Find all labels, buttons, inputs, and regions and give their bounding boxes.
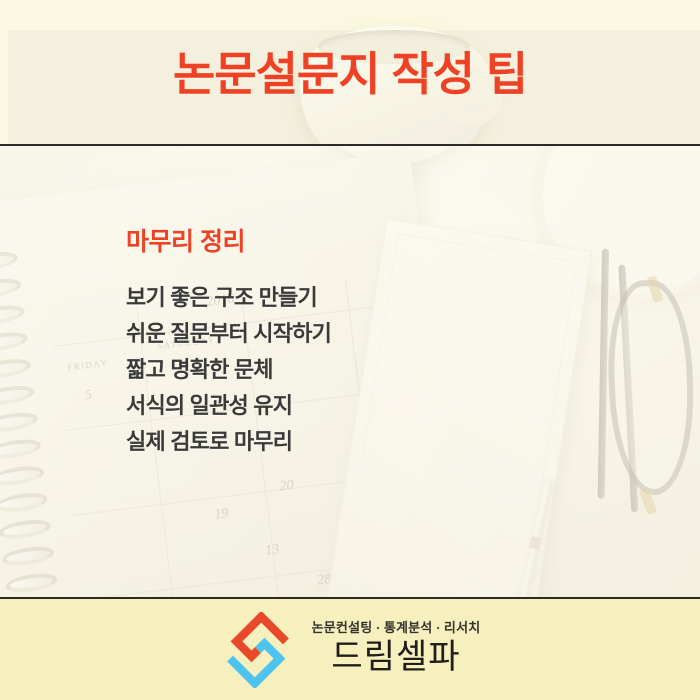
planner-coil-ring-icon [0,437,42,461]
calendar-handwritten-number: 20 [279,478,295,496]
planner-coil-ring-icon [0,410,39,434]
brand-name: 드림셀파 [331,637,460,679]
dreamsherpa-logo-icon [220,612,296,688]
footer-band: 논문컨설팅 · 통계분석 · 리서치 드림셀파 [0,599,700,700]
tip-item: 서식의 일관성 유지 [126,388,546,424]
eyeglasses-icon [554,246,700,555]
planner-coil-ring-icon [0,303,26,327]
tips-list: 보기 좋은 구조 만들기쉬운 질문부터 시작하기짧고 명확한 문체서식의 일관성… [126,280,546,460]
planner-coil-ring-icon [4,571,58,595]
brand-block: 논문컨설팅 · 통계분석 · 리서치 드림셀파 [312,619,481,681]
tip-item: 보기 좋은 구조 만들기 [126,280,546,316]
planner-coil-ring-icon [0,383,36,407]
planner-coil-ring-icon [0,491,49,515]
planner-coil-ring-icon [0,357,32,381]
planner-calendar-grid: 2016519202126272813FRIDAYSATURDAY [0,151,410,208]
background-photo: 2016519202126272813FRIDAYSATURDAY 마무리 정리… [0,146,700,598]
planner-coil-ring-icon [1,544,55,568]
calendar-handwritten-number: 13 [264,542,280,560]
page-title: 논문설문지 작성 팁 [0,44,700,104]
planner-coil-ring-icon [0,276,22,300]
calendar-handwritten-number: 19 [214,506,230,524]
planner-coil-ring-icon [0,330,29,354]
tip-item: 실제 검토로 마무리 [126,424,546,460]
eyeglasses-temple-icon [598,249,609,499]
tip-item: 짧고 명확한 문체 [126,352,546,388]
planner-coil-ring-icon [0,249,19,273]
section-heading: 마무리 정리 [126,226,546,258]
planner-coil-ring-icon [0,464,45,488]
content-block: 마무리 정리 보기 좋은 구조 만들기쉬운 질문부터 시작하기짧고 명확한 문체… [126,226,546,460]
planner-coil-ring-icon [0,517,52,541]
brand-tagline: 논문컨설팅 · 통계분석 · 리서치 [312,619,481,637]
calendar-handwritten-number: 5 [84,388,93,405]
infographic-card: 논문설문지 작성 팁 2016519202126272813FRIDAYSATU… [0,0,700,700]
planner-coil-icon [0,249,75,598]
eyeglasses-lens-icon [605,279,696,497]
calendar-day-label: FRIDAY [67,357,109,372]
tip-item: 쉬운 질문부터 시작하기 [126,316,546,352]
